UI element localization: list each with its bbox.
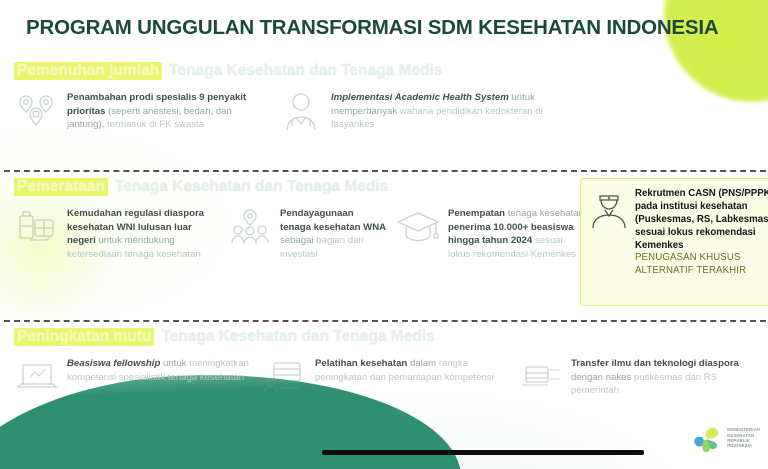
item-penempatan-mid: tenaga kesehatan (508, 208, 584, 219)
item-penempatan-strong: Penempatan (448, 208, 505, 219)
item-nakes-wna: Pendayagunaan tenaga kesehatan WNA sebag… (227, 204, 387, 261)
item-transfer-ilmu: Transfer ilmu dan teknologi diaspora den… (518, 354, 756, 400)
item-diaspora-mid: untuk mendukung (98, 235, 174, 246)
item-diaspora-text: Kemudahan regulasi diaspora kesehatan WN… (67, 204, 219, 261)
people-location-icon (227, 204, 273, 250)
item-fellowship-text: Beasiswa fellowship untuk meningkatkan k… (67, 354, 254, 384)
item-ahs-text: Implementasi Academic Health System untu… (331, 88, 548, 132)
section-divider-1 (4, 170, 766, 172)
section-1-items: Penambahan prodi spesialis 9 penyakit pr… (0, 80, 768, 134)
item-beasiswa-fellowship: Beasiswa fellowship untuk meningkatkan k… (14, 354, 254, 400)
highlight-card-strong: Rekrutmen CASN (PNS/PPPK) pada institusi… (635, 188, 768, 251)
section-peningkatan-mutu: Peningkatan mutu Tenaga Kesehatan dan Te… (0, 328, 768, 400)
item-fellowship-mid: untuk (163, 358, 186, 369)
training-board-icon (262, 354, 308, 400)
passport-luggage-icon (14, 204, 60, 250)
item-wna-text: Pendayagunaan tenaga kesehatan WNA sebag… (280, 204, 387, 261)
section-heading-1-highlight: Pemenuhan jumlah (14, 62, 162, 80)
item-academic-health-system: Implementasi Academic Health System untu… (278, 88, 548, 134)
item-pelatihan-mid: dalam (410, 358, 436, 369)
kemenkes-logo: KEMENTERIAN KESEHATAN REPUBLIK INDONESIA (688, 421, 760, 455)
section-pemenuhan: Pemenuhan jumlah Tenaga Kesehatan dan Te… (0, 62, 768, 134)
page-title: PROGRAM UNGGULAN TRANSFORMASI SDM KESEHA… (26, 16, 726, 40)
highlight-card-note: PENUGASAN KHUSUS ALTERNATIF TERAKHIR (635, 252, 768, 278)
item-wna-mid: sebagai (280, 235, 314, 246)
section-heading-1-rest: Tenaga Kesehatan dan Tenaga Medis (169, 62, 442, 80)
item-diaspora-wni: Kemudahan regulasi diaspora kesehatan WN… (14, 204, 219, 261)
item-transfer-text: Transfer ilmu dan teknologi diaspora den… (571, 354, 756, 398)
transfer-icon (518, 354, 564, 400)
item-pelatihan-strong: Pelatihan kesehatan (315, 358, 407, 369)
medical-pins-icon (14, 88, 60, 134)
section-heading-3: Peningkatan mutu Tenaga Kesehatan dan Te… (0, 328, 768, 346)
section-heading-2-rest: Tenaga Kesehatan dan Tenaga Medis (115, 178, 388, 196)
item-prodi-spesialis: Penambahan prodi spesialis 9 penyakit pr… (14, 88, 270, 134)
item-penempatan-beasiswa: Penempatan tenaga kesehatan penerima 10.… (395, 204, 587, 261)
section-heading-3-highlight: Peningkatan mutu (14, 328, 154, 346)
section-heading-2-highlight: Pemerataan (14, 178, 108, 196)
item-pelatihan-text: Pelatihan kesehatan dalam rangka peningk… (315, 354, 510, 384)
item-ahs-strong: Implementasi Academic Health System (331, 92, 509, 103)
black-bar-decoration (322, 450, 644, 455)
logo-line-4: INDONESIA (727, 443, 760, 448)
section-pemerataan: Pemerataan Tenaga Kesehatan dan Tenaga M… (0, 178, 768, 261)
item-prodi-rest: termasuk di FK swasta (107, 119, 204, 130)
highlight-card-rekrutmen-casn[interactable]: Rekrutmen CASN (PNS/PPPK) pada institusi… (580, 178, 768, 306)
highlight-card-text: Rekrutmen CASN (PNS/PPPK) pada institusi… (635, 188, 768, 297)
section-divider-2 (4, 320, 766, 322)
nurse-icon (589, 188, 629, 228)
section-heading-3-rest: Tenaga Kesehatan dan Tenaga Medis (161, 328, 434, 346)
graduation-cap-icon (395, 204, 441, 250)
doctor-icon (278, 88, 324, 134)
item-fellowship-strong: Beasiswa fellowship (67, 358, 160, 369)
logo-line-1: KEMENTERIAN (727, 427, 760, 432)
laptop-icon (14, 354, 60, 400)
section-heading-1: Pemenuhan jumlah Tenaga Kesehatan dan Te… (0, 62, 768, 80)
slide-canvas: PROGRAM UNGGULAN TRANSFORMASI SDM KESEHA… (0, 0, 768, 469)
kemenkes-logo-mark-icon (688, 421, 722, 455)
kemenkes-logo-text: KEMENTERIAN KESEHATAN REPUBLIK INDONESIA (727, 427, 760, 449)
item-penempatan-text: Penempatan tenaga kesehatan penerima 10.… (448, 204, 587, 261)
item-transfer-mid: dengan nakes (571, 372, 631, 383)
item-transfer-strong: Transfer ilmu dan teknologi diaspora (571, 358, 739, 369)
item-pelatihan-kesehatan: Pelatihan kesehatan dalam rangka peningk… (262, 354, 510, 400)
item-prodi-spesialis-text: Penambahan prodi spesialis 9 penyakit pr… (67, 88, 270, 132)
item-wna-strong: Pendayagunaan tenaga kesehatan WNA (280, 208, 386, 233)
item-diaspora-rest: ketersediaan tenaga kesehatan (67, 249, 201, 260)
section-3-items: Beasiswa fellowship untuk meningkatkan k… (0, 346, 768, 400)
